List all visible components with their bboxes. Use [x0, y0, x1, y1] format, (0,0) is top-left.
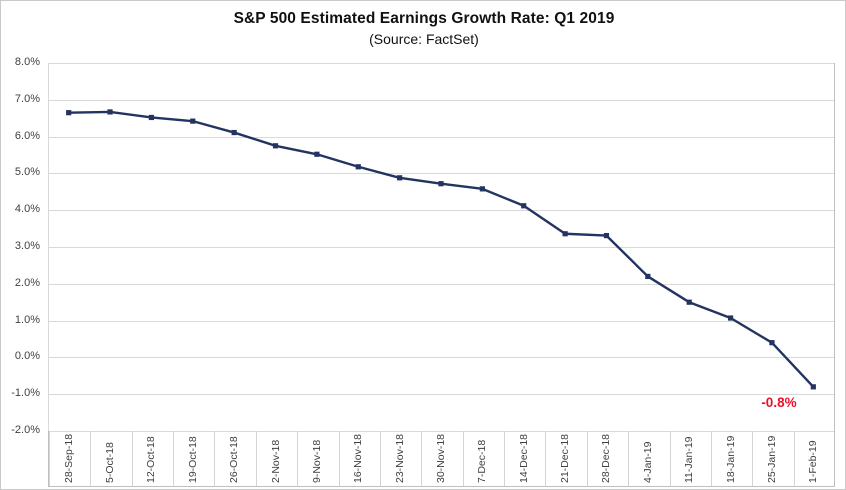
- x-axis-tick-separator: [90, 431, 91, 486]
- x-axis-tick-separator: [794, 431, 795, 486]
- y-axis-tick-label: 5.0%: [0, 166, 40, 178]
- data-point-marker: [66, 110, 71, 115]
- x-axis-tick-label: 4-Jan-19: [642, 442, 654, 483]
- x-axis-tick-label: 23-Nov-18: [394, 434, 406, 483]
- x-axis-tick-separator: [587, 431, 588, 486]
- chart-container: S&P 500 Estimated Earnings Growth Rate: …: [0, 0, 846, 490]
- y-axis-tick-label: 1.0%: [0, 314, 40, 326]
- x-axis-tick-label: 9-Nov-18: [311, 440, 323, 483]
- x-axis-tick-label: 28-Sep-18: [63, 434, 75, 483]
- x-axis-tick-separator: [504, 431, 505, 486]
- x-axis-tick-separator: [49, 431, 50, 486]
- series-line-chart: [48, 63, 834, 431]
- x-axis-tick-label: 19-Oct-18: [187, 436, 199, 483]
- data-point-marker: [232, 130, 237, 135]
- x-axis-tick-separator: [711, 431, 712, 486]
- series-markers-group: [66, 109, 816, 389]
- data-point-marker: [190, 119, 195, 124]
- x-axis-tick-separator: [214, 431, 215, 486]
- data-point-marker: [107, 109, 112, 114]
- data-point-marker: [687, 300, 692, 305]
- x-axis-tick-label: 28-Dec-18: [600, 434, 612, 483]
- x-axis-tick-label: 7-Dec-18: [476, 440, 488, 483]
- plot-area: [48, 63, 834, 431]
- x-axis-tick-label: 18-Jan-19: [725, 436, 737, 483]
- y-axis-tick-label: 7.0%: [0, 93, 40, 105]
- y-axis-tick-label: -1.0%: [0, 387, 40, 399]
- data-point-marker: [314, 152, 319, 157]
- data-point-marker: [438, 181, 443, 186]
- x-axis-tick-label: 1-Feb-19: [807, 440, 819, 483]
- y-axis-tick-label: 4.0%: [0, 203, 40, 215]
- x-axis-tick-label: 2-Nov-18: [270, 440, 282, 483]
- x-axis-tick-separator: [752, 431, 753, 486]
- data-point-marker: [480, 186, 485, 191]
- y-axis-tick-label: 2.0%: [0, 277, 40, 289]
- x-axis-tick-label: 16-Nov-18: [352, 434, 364, 483]
- data-point-marker: [397, 175, 402, 180]
- data-point-marker: [811, 384, 816, 389]
- y-axis-tick-label: 6.0%: [0, 130, 40, 142]
- x-axis-tick-separator: [173, 431, 174, 486]
- data-point-marker: [273, 143, 278, 148]
- x-axis-tick-separator: [670, 431, 671, 486]
- x-axis-tick-separator: [628, 431, 629, 486]
- x-axis-labels: 28-Sep-185-Oct-1812-Oct-1819-Oct-1826-Oc…: [48, 431, 835, 487]
- chart-title: S&P 500 Estimated Earnings Growth Rate: …: [1, 9, 846, 29]
- data-point-marker: [563, 231, 568, 236]
- x-axis-tick-separator: [339, 431, 340, 486]
- y-axis-tick-label: 3.0%: [0, 240, 40, 252]
- data-point-marker: [604, 233, 609, 238]
- data-point-marker: [149, 115, 154, 120]
- chart-title-block: S&P 500 Estimated Earnings Growth Rate: …: [1, 9, 846, 49]
- x-axis-tick-separator: [545, 431, 546, 486]
- data-point-marker: [645, 274, 650, 279]
- x-axis-tick-separator: [380, 431, 381, 486]
- data-point-marker: [356, 164, 361, 169]
- x-axis-tick-label: 14-Dec-18: [518, 434, 530, 483]
- data-point-marker: [521, 203, 526, 208]
- chart-subtitle: (Source: FactSet): [1, 30, 846, 49]
- y-axis-tick-label: 8.0%: [0, 56, 40, 68]
- y-axis-tick-label: -2.0%: [0, 424, 40, 436]
- plot-right-axis-line: [834, 63, 835, 431]
- x-axis-tick-label: 12-Oct-18: [145, 436, 157, 483]
- x-axis-tick-separator: [421, 431, 422, 486]
- series-polyline: [69, 112, 814, 387]
- x-axis-tick-label: 5-Oct-18: [104, 442, 116, 483]
- data-point-marker: [728, 315, 733, 320]
- x-axis-tick-separator: [132, 431, 133, 486]
- y-axis-tick-label: 0.0%: [0, 350, 40, 362]
- x-axis-tick-label: 30-Nov-18: [435, 434, 447, 483]
- x-axis-tick-label: 25-Jan-19: [766, 436, 778, 483]
- x-axis-tick-separator: [297, 431, 298, 486]
- x-axis-tick-separator: [256, 431, 257, 486]
- end-value-annotation: -0.8%: [761, 395, 796, 410]
- x-axis-tick-label: 21-Dec-18: [559, 434, 571, 483]
- x-axis-tick-label: 11-Jan-19: [683, 436, 695, 483]
- x-axis-tick-label: 26-Oct-18: [228, 436, 240, 483]
- x-axis-tick-separator: [463, 431, 464, 486]
- data-point-marker: [769, 340, 774, 345]
